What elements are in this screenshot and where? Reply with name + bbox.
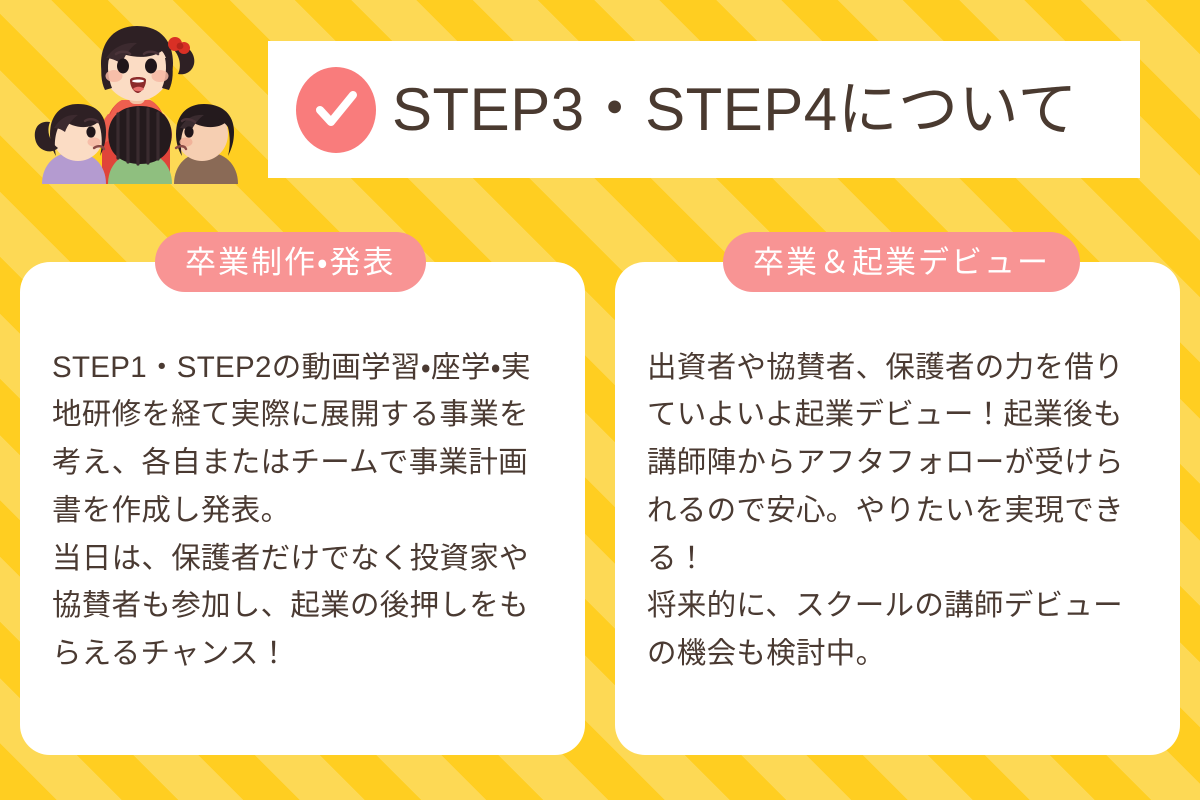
slide-stage: STEP3・STEP4について STEP1・STEP2の動画学習・座学・実地研修… xyxy=(0,0,1200,800)
card-body-text: 出資者や協賛者、保護者の力を借りていよいよ起業デビュー！起業後も講師陣からアフタ… xyxy=(647,344,1148,678)
badge-graduation-startup-debut: 卒業＆起業デビュー xyxy=(723,232,1080,292)
card-graduation-startup-debut: 出資者や協賛者、保護者の力を借りていよいよ起業デビュー！起業後も講師陣からアフタ… xyxy=(615,262,1180,755)
check-circle-icon xyxy=(296,67,376,153)
page-title: STEP3・STEP4について xyxy=(392,80,1078,140)
badge-graduation-project: 卒業制作・発表 xyxy=(155,232,426,292)
card-body-text: STEP1・STEP2の動画学習・座学・実地研修を経て実際に展開する事業を考え、… xyxy=(52,344,553,678)
card-graduation-project: STEP1・STEP2の動画学習・座学・実地研修を経て実際に展開する事業を考え、… xyxy=(20,262,585,755)
column-graduation-project: STEP1・STEP2の動画学習・座学・実地研修を経て実際に展開する事業を考え、… xyxy=(20,232,585,756)
column-graduation-startup-debut: 出資者や協賛者、保護者の力を借りていよいよ起業デビュー！起業後も講師陣からアフタ… xyxy=(615,232,1180,756)
title-bar: STEP3・STEP4について xyxy=(268,41,1140,178)
content-columns: STEP1・STEP2の動画学習・座学・実地研修を経て実際に展開する事業を考え、… xyxy=(0,232,1200,772)
children-presentation-illustration xyxy=(34,18,260,204)
